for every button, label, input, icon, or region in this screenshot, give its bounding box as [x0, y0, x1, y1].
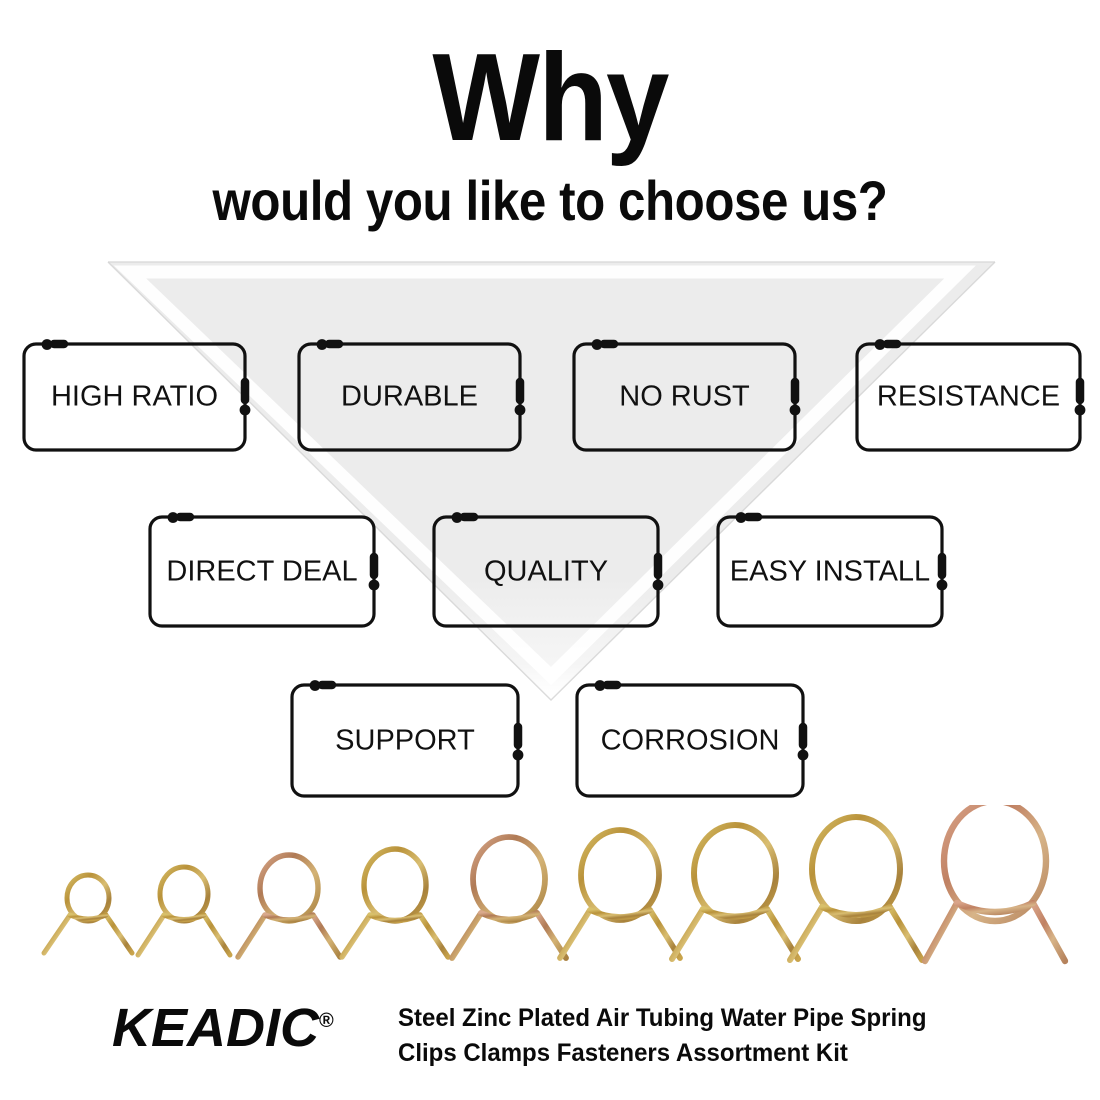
footer: KEADIC® Steel Zinc Plated Air Tubing Wat…	[0, 995, 1100, 1075]
spring-clip	[560, 830, 680, 958]
headline: Why would you like to choose us?	[0, 36, 1100, 231]
feature-box-quality[interactable]: QUALITY	[432, 515, 660, 628]
feature-label: EASY INSTALL	[716, 555, 944, 588]
spring-clip	[452, 837, 566, 958]
feature-box-support[interactable]: SUPPORT	[290, 683, 520, 798]
feature-label: CORROSION	[575, 724, 805, 757]
feature-box-durable[interactable]: DURABLE	[297, 342, 522, 452]
feature-label: DURABLE	[297, 381, 522, 414]
feature-box-corrosion[interactable]: CORROSION	[575, 683, 805, 798]
feature-label: DIRECT DEAL	[148, 555, 376, 588]
headline-why: Why	[44, 36, 1056, 160]
spring-clip	[44, 875, 132, 953]
spring-clip	[238, 855, 340, 957]
feature-box-easy-install[interactable]: EASY INSTALL	[716, 515, 944, 628]
feature-label: HIGH RATIO	[22, 381, 247, 414]
headline-subtitle: would you like to choose us?	[66, 172, 1034, 231]
spring-clip	[925, 805, 1065, 961]
spring-clip	[672, 825, 798, 959]
infographic-page: Why would you like to choose us? HIGH RA…	[0, 0, 1100, 1100]
feature-label: NO RUST	[572, 381, 797, 414]
brand-name: KEADIC	[112, 998, 319, 1058]
feature-box-resistance[interactable]: RESISTANCE	[855, 342, 1082, 452]
spring-clip	[790, 817, 922, 960]
brand-logo: KEADIC®	[112, 997, 334, 1059]
feature-box-high-ratio[interactable]: HIGH RATIO	[22, 342, 247, 452]
registered-trademark-icon: ®	[319, 1010, 334, 1032]
feature-label: RESISTANCE	[855, 381, 1082, 414]
spring-clip	[138, 867, 230, 955]
spring-clip	[342, 849, 448, 957]
feature-box-no-rust[interactable]: NO RUST	[572, 342, 797, 452]
feature-box-direct-deal[interactable]: DIRECT DEAL	[148, 515, 376, 628]
feature-label: QUALITY	[432, 555, 660, 588]
product-title: Steel Zinc Plated Air Tubing Water Pipe …	[398, 1001, 974, 1070]
feature-label: SUPPORT	[290, 724, 520, 757]
product-photo-spring-clips	[0, 805, 1100, 980]
